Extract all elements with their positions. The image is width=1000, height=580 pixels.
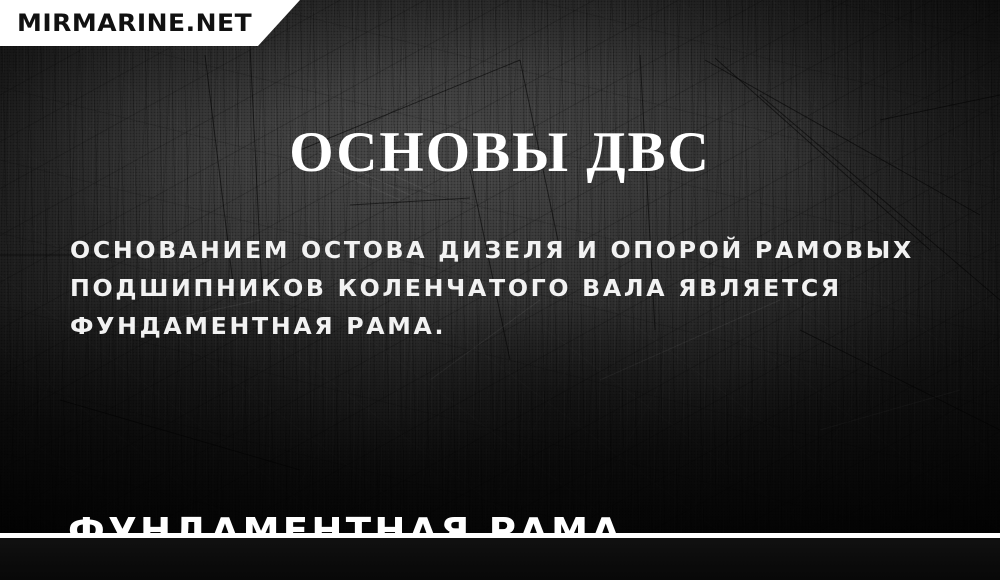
slide-title: ОСНОВЫ ДВС — [0, 124, 1000, 181]
body-text-block: ОСНОВАНИЕМ ОСТОВА ДИЗЕЛЯ И ОПОРОЙ РАМОВЫ… — [70, 232, 950, 346]
body-line: ОСНОВАНИЕМ ОСТОВА ДИЗЕЛЯ И ОПОРОЙ РАМОВЫ… — [70, 232, 976, 270]
site-logo-text: MIRMARINE.NET — [17, 11, 252, 35]
body-line: ФУНДАМЕНТНАЯ РАМА. — [70, 308, 976, 346]
presentation-slide: MIRMARINE.NET ОСНОВЫ ДВС ОСНОВАНИЕМ ОСТО… — [0, 0, 1000, 580]
body-line: ПОДШИПНИКОВ КОЛЕНЧАТОГО ВАЛА ЯВЛЯЕТСЯ — [70, 270, 976, 308]
logo-banner[interactable]: MIRMARINE.NET — [0, 0, 300, 46]
footer-strip — [0, 538, 1000, 580]
